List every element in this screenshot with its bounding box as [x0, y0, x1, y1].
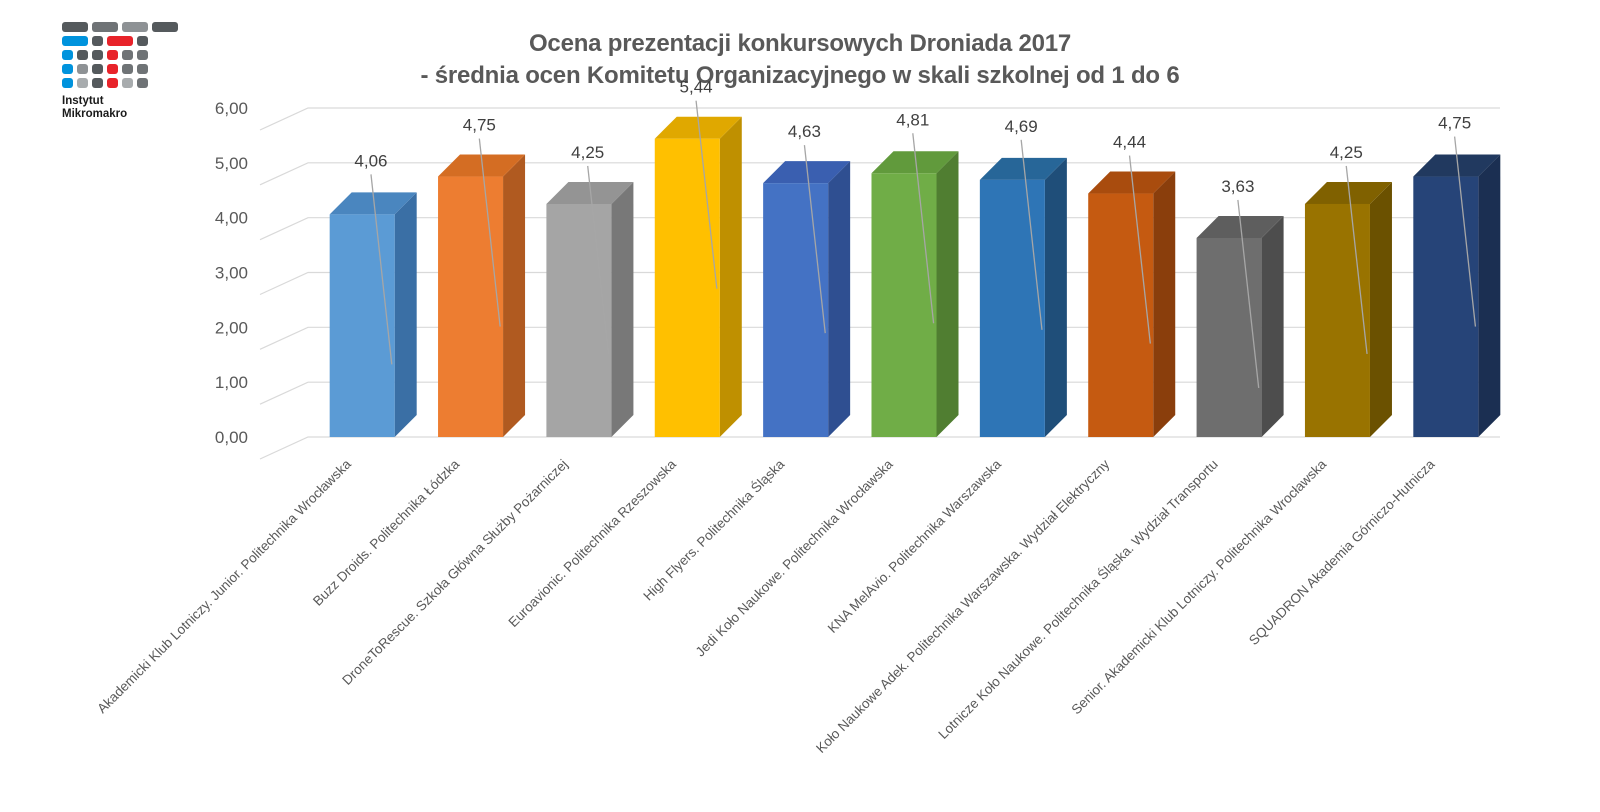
- x-axis-category-label: Euroavionic. Politechnika Rzeszowska: [505, 456, 679, 630]
- bar[interactable]: [763, 161, 850, 437]
- bar-chart-3d: 6,005,004,003,002,001,000,004,064,754,25…: [0, 0, 1600, 812]
- bar-side-face: [503, 155, 525, 437]
- bar-front-face[interactable]: [546, 204, 611, 437]
- bar-front-face[interactable]: [330, 214, 395, 437]
- bar-value-label: 4,25: [571, 143, 604, 162]
- bar-value-label: 5,44: [680, 78, 713, 97]
- x-axis-category-label: Akademicki Klub Lotniczy. Junior. Polite…: [94, 456, 354, 716]
- bar-side-face: [1045, 158, 1067, 437]
- bar-front-face[interactable]: [1197, 238, 1262, 437]
- x-axis-category-label: SQUADRON Akademia Górniczo-Hutnicza: [1246, 456, 1438, 648]
- gridline: [260, 437, 1500, 459]
- y-axis-labels: 6,005,004,003,002,001,000,00: [215, 99, 248, 447]
- bar-side-face: [937, 151, 959, 437]
- bar[interactable]: [1413, 155, 1500, 437]
- x-axis-category-label: DroneToRescue. Szkoła Główna Służby Poża…: [339, 457, 570, 688]
- bar-front-face[interactable]: [655, 139, 720, 437]
- x-axis-category-label: KNA MelAvio. Politechnika Warszawska: [825, 456, 1005, 636]
- x-axis-category-label: Senior. Akademicki Klub Lotniczy. Polite…: [1068, 456, 1329, 717]
- bar-side-face: [1478, 155, 1500, 437]
- bar[interactable]: [546, 182, 633, 437]
- bar-side-face: [1153, 172, 1175, 437]
- bar-front-face[interactable]: [1305, 204, 1370, 437]
- bar-value-label: 4,06: [354, 151, 387, 170]
- y-axis-tick-label: 4,00: [215, 209, 248, 228]
- bar-front-face[interactable]: [1413, 177, 1478, 437]
- bar[interactable]: [1197, 216, 1284, 437]
- bar-value-label: 4,63: [788, 122, 821, 141]
- y-axis-tick-label: 5,00: [215, 154, 248, 173]
- bar-value-label: 4,69: [1005, 117, 1038, 136]
- bar-value-label: 4,81: [896, 110, 929, 129]
- bar-side-face: [1370, 182, 1392, 437]
- bar-front-face[interactable]: [1088, 194, 1153, 437]
- y-axis-tick-label: 2,00: [215, 318, 248, 337]
- y-axis-tick-label: 6,00: [215, 99, 248, 118]
- bar-side-face: [1262, 216, 1284, 437]
- x-axis-category-labels: Akademicki Klub Lotniczy. Junior. Polite…: [94, 456, 1438, 756]
- bar[interactable]: [1088, 172, 1175, 437]
- bar[interactable]: [330, 192, 417, 437]
- bar-value-label: 4,25: [1330, 143, 1363, 162]
- bar[interactable]: [438, 155, 525, 437]
- bar[interactable]: [1305, 182, 1392, 437]
- bar-side-face: [720, 117, 742, 437]
- y-axis-tick-label: 0,00: [215, 428, 248, 447]
- bar-side-face: [395, 192, 417, 437]
- x-axis-category-label: Jedi Koło Naukowe. Politechnika Wrocławs…: [693, 456, 896, 659]
- chart-canvas: 6,005,004,003,002,001,000,004,064,754,25…: [0, 0, 1600, 812]
- bar-value-label: 4,75: [463, 116, 496, 135]
- bar-side-face: [828, 161, 850, 437]
- bar-front-face[interactable]: [438, 177, 503, 437]
- bar-value-label: 4,75: [1438, 114, 1471, 133]
- bar[interactable]: [980, 158, 1067, 437]
- bar-value-label: 4,44: [1113, 133, 1146, 152]
- bar-side-face: [611, 182, 633, 437]
- bar[interactable]: [871, 151, 958, 437]
- bar-front-face[interactable]: [980, 180, 1045, 437]
- bar[interactable]: [655, 117, 742, 437]
- bar-front-face[interactable]: [871, 173, 936, 437]
- bar-front-face[interactable]: [763, 183, 828, 437]
- gridline: [260, 108, 1500, 130]
- y-axis-tick-label: 1,00: [215, 373, 248, 392]
- bar-value-label: 3,63: [1221, 177, 1254, 196]
- bars: [330, 117, 1501, 437]
- y-axis-tick-label: 3,00: [215, 264, 248, 283]
